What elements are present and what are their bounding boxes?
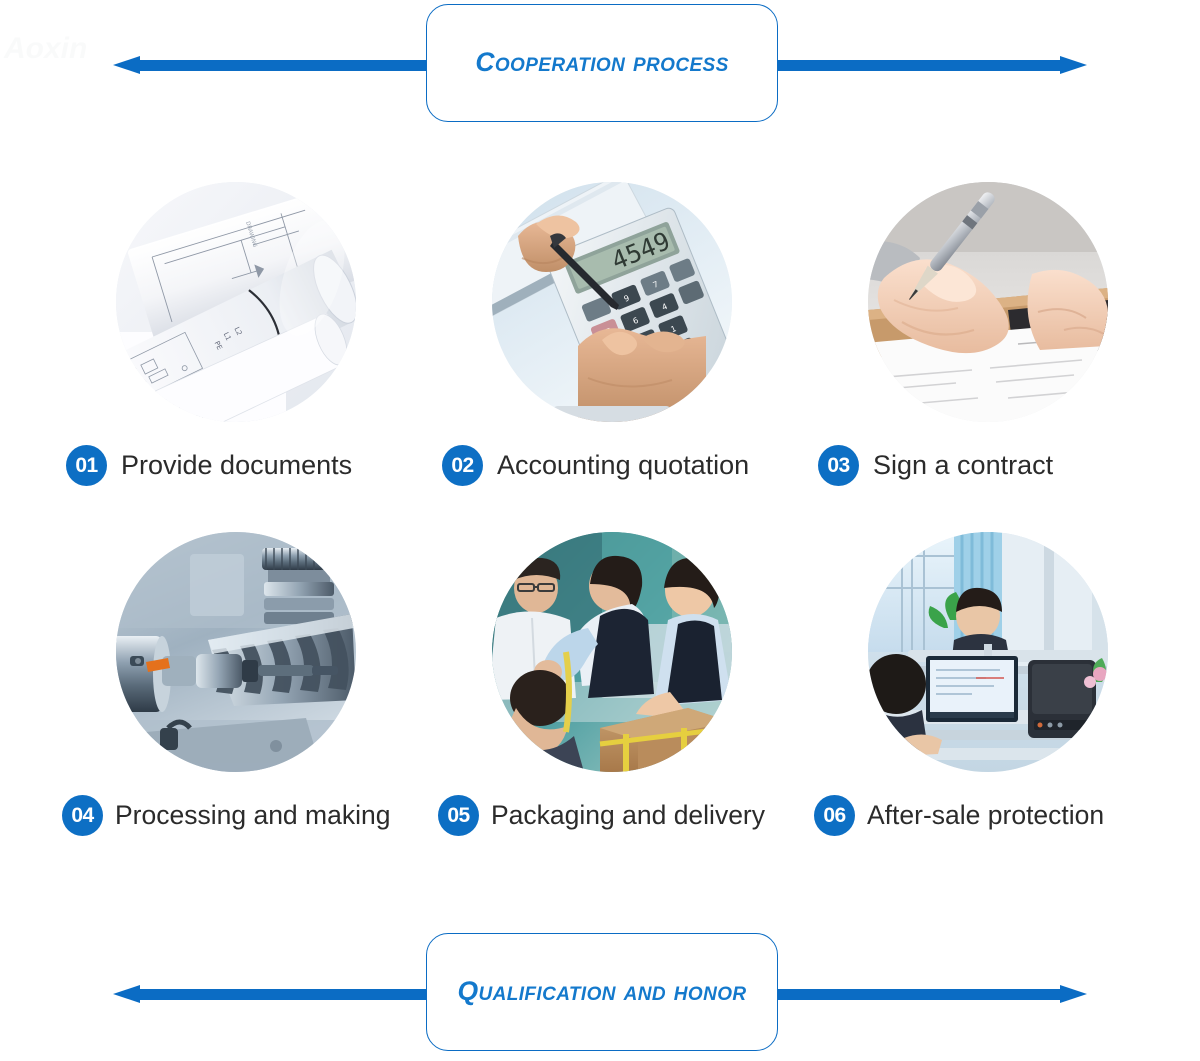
step-caption: 01 Provide documents: [48, 442, 424, 488]
step-caption: 06 After-sale protection: [800, 792, 1176, 838]
arrow-right-icon: [757, 985, 1087, 1004]
arrow-right-icon: [757, 56, 1087, 75]
photo-cnc-machining: [116, 532, 356, 772]
step-caption: 04 Processing and making: [48, 792, 424, 838]
process-steps-row-2: 04 Processing and making: [0, 510, 1200, 860]
step-badge: 02: [442, 445, 483, 486]
photo-office-support: [868, 532, 1108, 772]
photo-signing: [868, 182, 1108, 422]
section-title-cooperation: Cooperation process: [475, 48, 728, 77]
step-label: After-sale protection: [867, 802, 1104, 829]
arrow-left-icon: [113, 985, 443, 1004]
step-label: Sign a contract: [873, 452, 1053, 479]
step-label: Processing and making: [115, 802, 390, 829]
step-label: Accounting quotation: [497, 452, 749, 479]
step-caption: 03 Sign a contract: [800, 442, 1176, 488]
step-badge: 03: [818, 445, 859, 486]
photo-packaging: [492, 532, 732, 772]
process-step-06[interactable]: 06 After-sale protection: [800, 510, 1176, 860]
process-step-03[interactable]: 03 Sign a contract: [800, 160, 1176, 510]
process-step-04[interactable]: 04 Processing and making: [48, 510, 424, 860]
cooperation-process-banner: Cooperation process: [0, 0, 1200, 130]
process-steps-row-1: b1 63 W: [0, 160, 1200, 510]
section-title-box-qualification: Qualification and honor: [426, 933, 778, 1051]
process-steps-grid: b1 63 W: [0, 160, 1200, 860]
process-step-01[interactable]: b1 63 W: [48, 160, 424, 510]
process-step-02[interactable]: 4549: [424, 160, 800, 510]
step-badge: 05: [438, 795, 479, 836]
step-badge: 01: [66, 445, 107, 486]
step-label: Provide documents: [121, 452, 352, 479]
arrow-left-icon: [113, 56, 443, 75]
photo-calculator: 4549: [492, 182, 732, 422]
step-label: Packaging and delivery: [491, 802, 765, 829]
step-badge: 06: [814, 795, 855, 836]
section-title-box-cooperation: Cooperation process: [426, 4, 778, 122]
photo-blueprints: b1 63 W: [116, 182, 356, 422]
step-caption: 02 Accounting quotation: [424, 442, 800, 488]
process-step-05[interactable]: 05 Packaging and delivery: [424, 510, 800, 860]
qualification-honor-banner: Qualification and honor: [0, 929, 1200, 1059]
section-title-qualification: Qualification and honor: [457, 977, 746, 1006]
step-caption: 05 Packaging and delivery: [424, 792, 800, 838]
step-badge: 04: [62, 795, 103, 836]
